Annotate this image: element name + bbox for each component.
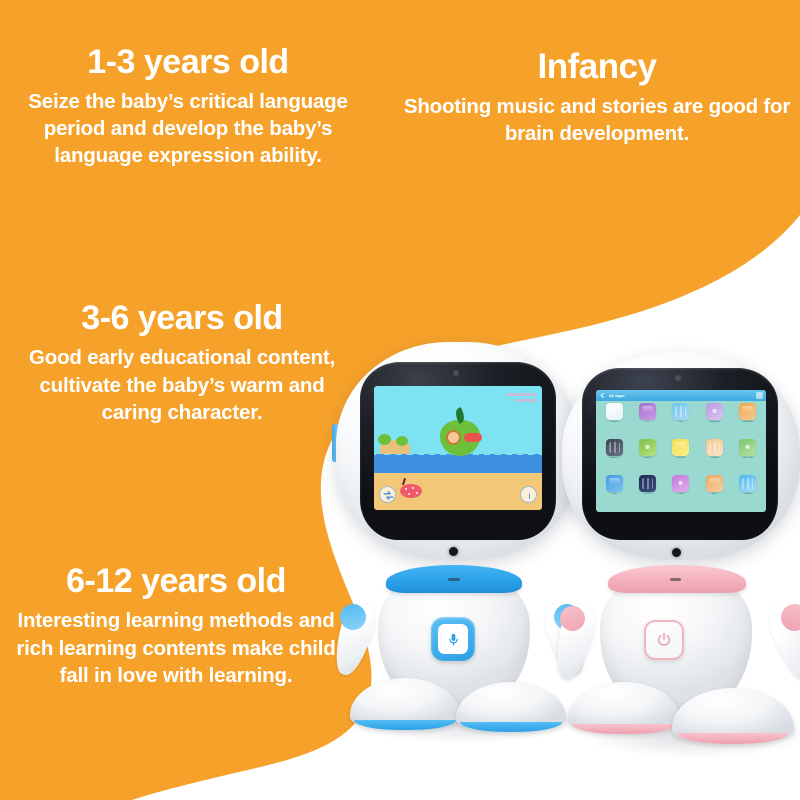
game-info-icon[interactable]: i bbox=[520, 486, 537, 503]
camera-eye-icon[interactable] bbox=[606, 439, 623, 456]
app-label: Games bbox=[677, 457, 685, 460]
game-refresh-icon[interactable] bbox=[379, 486, 396, 503]
pink-robot[interactable]: All apps RobotKidMicKeyboardCalculatorCa… bbox=[552, 352, 800, 752]
app-cell[interactable]: Story bbox=[698, 475, 730, 510]
app-cell[interactable]: ABC 123 bbox=[732, 439, 764, 474]
age-block-6-12-body: Interesting learning methods and rich le… bbox=[2, 607, 350, 691]
app-icon-motif bbox=[675, 442, 686, 453]
app-label: Keyboard bbox=[709, 421, 720, 424]
pink-robot-screen-bezel: All apps RobotKidMicKeyboardCalculatorCa… bbox=[582, 368, 778, 540]
app-icon-motif bbox=[709, 478, 720, 489]
app-grid[interactable]: RobotKidMicKeyboardCalculatorCameraGalle… bbox=[598, 403, 764, 510]
app-cell[interactable]: Camera bbox=[598, 439, 630, 474]
pink-robot-right-foot-rim bbox=[677, 733, 789, 744]
blue-robot-mic-button[interactable] bbox=[431, 617, 475, 661]
gamepad-icon[interactable] bbox=[672, 439, 689, 456]
app-icon-motif bbox=[709, 406, 720, 417]
app-icon-motif bbox=[609, 406, 620, 417]
pink-robot-power-button[interactable] bbox=[644, 620, 684, 660]
game-hud-line-2 bbox=[515, 399, 537, 402]
game-hud-line-1 bbox=[507, 393, 537, 396]
age-block-1-3-body: Seize the baby’s critical language perio… bbox=[8, 88, 368, 169]
app-icon-motif bbox=[742, 442, 753, 453]
app-label: Robot bbox=[611, 421, 618, 424]
app-icon-motif bbox=[609, 478, 620, 489]
app-cell[interactable]: Quiz bbox=[598, 475, 630, 510]
pink-robot-sensor-icon bbox=[672, 548, 681, 557]
app-cell[interactable]: Games bbox=[665, 439, 697, 474]
app-icon-motif bbox=[642, 478, 653, 489]
poster-canvas: 1-3 years old Seize the baby’s critical … bbox=[0, 0, 800, 800]
app-cell[interactable]: Paint bbox=[665, 475, 697, 510]
microphone-icon[interactable] bbox=[672, 403, 689, 420]
blue-robot-head: i bbox=[336, 342, 580, 560]
pink-robot-lcd[interactable]: All apps RobotKidMicKeyboardCalculatorCa… bbox=[596, 390, 766, 512]
app-label: Crafts bbox=[711, 457, 718, 460]
app-icon-motif bbox=[675, 478, 686, 489]
stem-icon[interactable] bbox=[639, 475, 656, 492]
lightbulb-icon[interactable] bbox=[606, 475, 623, 492]
app-label: Camera bbox=[610, 457, 619, 460]
blue-robot-sensor-icon bbox=[449, 547, 458, 556]
app-label: Kid bbox=[646, 421, 650, 424]
age-block-infancy-title: Infancy bbox=[402, 48, 792, 86]
calculator-icon[interactable] bbox=[739, 403, 756, 420]
age-block-3-6-body: Good early educational content, cultivat… bbox=[8, 344, 356, 428]
blue-robot-mic-slit bbox=[448, 578, 460, 581]
app-cell[interactable]: Gallery bbox=[631, 439, 663, 474]
age-block-1-3: 1-3 years old Seize the baby’s critical … bbox=[8, 44, 368, 169]
pink-robot-front-camera-icon bbox=[676, 376, 680, 380]
age-block-infancy-body: Shooting music and stories are good for … bbox=[402, 93, 792, 147]
power-icon bbox=[655, 631, 673, 649]
notes-icon[interactable] bbox=[739, 475, 756, 492]
blue-robot-right-foot-rim bbox=[460, 722, 561, 732]
app-cell[interactable]: Calculator bbox=[732, 403, 764, 438]
app-icon-motif bbox=[742, 406, 753, 417]
blue-robot[interactable]: i bbox=[330, 340, 590, 740]
pink-robot-left-foot-rim bbox=[572, 724, 675, 734]
app-cell[interactable]: Robot bbox=[598, 403, 630, 438]
game-apple-label bbox=[464, 433, 482, 442]
blue-robot-lcd[interactable]: i bbox=[374, 386, 542, 510]
app-grid-titlebar-label: All apps bbox=[609, 393, 625, 398]
app-cell[interactable]: Notes bbox=[732, 475, 764, 510]
app-label: Quiz bbox=[612, 493, 617, 496]
pink-robot-head: All apps RobotKidMicKeyboardCalculatorCa… bbox=[562, 352, 800, 560]
app-cell[interactable]: Crafts bbox=[698, 439, 730, 474]
cartoon-kid-icon[interactable] bbox=[639, 403, 656, 420]
landscape-icon[interactable] bbox=[639, 439, 656, 456]
app-icon-motif bbox=[675, 406, 686, 417]
game-bug-icon bbox=[400, 484, 422, 498]
app-grid-titlebar: All apps bbox=[596, 390, 766, 401]
app-label: STEM bbox=[644, 493, 651, 496]
svg-text:i: i bbox=[528, 491, 530, 501]
app-icon-motif bbox=[642, 442, 653, 453]
game-bush-right bbox=[396, 436, 408, 446]
age-block-3-6: 3-6 years old Good early educational con… bbox=[8, 300, 356, 427]
app-icon-motif bbox=[742, 478, 753, 489]
app-label: Notes bbox=[744, 493, 751, 496]
app-label: Calculator bbox=[742, 421, 754, 424]
app-cell[interactable]: Mic bbox=[665, 403, 697, 438]
back-arrow-icon[interactable] bbox=[599, 392, 606, 399]
game-sea bbox=[374, 455, 542, 472]
age-block-3-6-title: 3-6 years old bbox=[8, 300, 356, 337]
blue-robot-left-foot-rim bbox=[354, 720, 455, 730]
app-icon-motif bbox=[609, 442, 620, 453]
app-cell[interactable]: Kid bbox=[631, 403, 663, 438]
blue-robot-front-camera-icon bbox=[454, 371, 458, 375]
face-icon[interactable] bbox=[706, 475, 723, 492]
app-label: Story bbox=[711, 493, 717, 496]
keyboard-icon[interactable] bbox=[706, 403, 723, 420]
app-label: ABC 123 bbox=[743, 457, 753, 460]
age-block-1-3-title: 1-3 years old bbox=[8, 44, 368, 81]
age-block-6-12: 6-12 years old Interesting learning meth… bbox=[2, 563, 350, 690]
app-cell[interactable]: Keyboard bbox=[698, 403, 730, 438]
palette-icon[interactable] bbox=[672, 475, 689, 492]
pink-robot-mic-slit bbox=[670, 578, 681, 581]
game-bush-left bbox=[378, 434, 391, 445]
age-block-6-12-title: 6-12 years old bbox=[2, 563, 350, 600]
microphone-icon bbox=[445, 631, 462, 648]
app-label: Gallery bbox=[643, 457, 651, 460]
game-apple-face-icon bbox=[446, 430, 461, 445]
app-label: Mic bbox=[679, 421, 683, 424]
app-icon-motif bbox=[642, 406, 653, 417]
app-grid-search-icon[interactable] bbox=[756, 392, 763, 399]
age-block-infancy: Infancy Shooting music and stories are g… bbox=[402, 48, 792, 147]
app-icon-motif bbox=[709, 442, 720, 453]
blue-robot-screen-bezel: i bbox=[360, 362, 556, 540]
app-cell[interactable]: STEM bbox=[631, 475, 663, 510]
app-label: Paint bbox=[678, 493, 684, 496]
abc-icon[interactable] bbox=[739, 439, 756, 456]
robot-icon[interactable] bbox=[606, 403, 623, 420]
craft-icon[interactable] bbox=[706, 439, 723, 456]
